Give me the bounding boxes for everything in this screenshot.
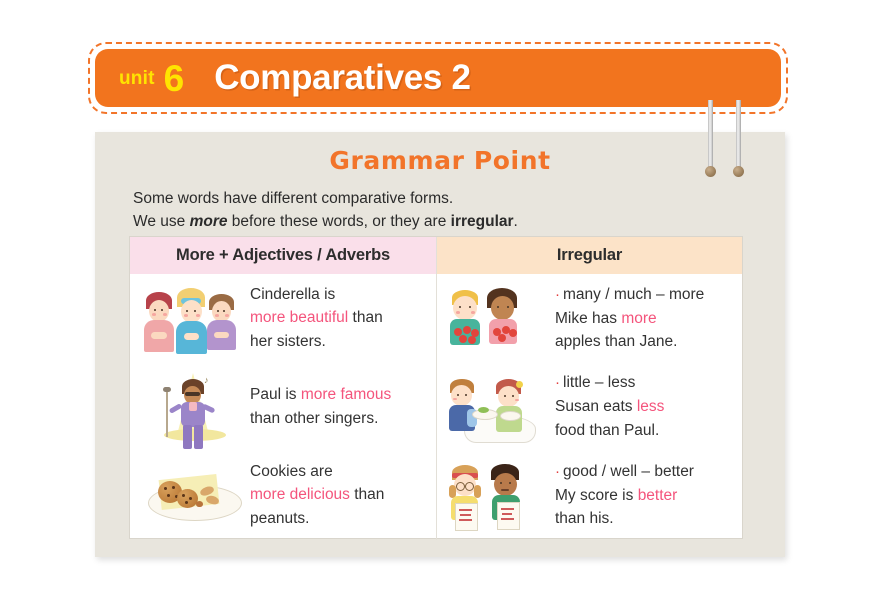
rule-text: good / well – better	[563, 463, 694, 480]
unit-label: unit	[119, 68, 155, 90]
intro-text: Some words have different comparative fo…	[133, 187, 785, 234]
rule-line: ·good / well – better	[555, 460, 694, 484]
intro-line-2-part2: before these words, or they are	[227, 213, 450, 230]
page-title: Comparatives 2	[214, 58, 470, 98]
two-kids-with-apples-illustration	[443, 278, 555, 358]
rule-line: ·little – less	[555, 371, 664, 395]
highlight-phrase: less	[637, 398, 665, 415]
example-line-2: My score is better	[555, 484, 694, 508]
singer-on-stage-illustration: ♪	[138, 367, 250, 447]
intro-line-2-part3: .	[514, 213, 518, 230]
example-line-2-rest: than	[348, 309, 382, 326]
example-line-1: Cookies are	[250, 460, 384, 484]
grammar-panel: Grammar Point Some words have different …	[95, 132, 785, 557]
column-header-more-adjectives: More + Adjectives / Adverbs	[130, 237, 436, 274]
example-line-1: Paul is more famous	[250, 383, 391, 407]
unit-banner: unit 6 Comparatives 2	[95, 49, 781, 107]
table-row: ♪ Paul is more famous than other singers…	[130, 363, 436, 452]
example-text: ·good / well – better My score is better…	[555, 460, 694, 531]
grammar-table: More + Adjectives / Adverbs Irregular	[129, 236, 743, 539]
example-line-3: than his.	[555, 507, 694, 531]
column-more-adjectives: Cinderella is more beautiful than her si…	[130, 274, 436, 540]
binding-pin-head-left	[705, 166, 716, 177]
example-line-2: more delicious than	[250, 483, 384, 507]
intro-emphasis-irregular: irregular	[451, 213, 514, 230]
column-header-irregular: Irregular	[436, 237, 742, 274]
bullet-icon: ·	[555, 374, 560, 391]
highlight-phrase: more delicious	[250, 486, 350, 503]
intro-line-2-part1: We use	[133, 213, 190, 230]
three-princesses-illustration	[138, 278, 250, 358]
table-row: ·many / much – more Mike has more apples…	[437, 274, 742, 363]
binding-pin-left	[708, 100, 713, 172]
example-text: ·little – less Susan eats less food than…	[555, 371, 664, 442]
cookies-and-peanuts-illustration	[138, 455, 250, 535]
highlight-phrase: more beautiful	[250, 309, 348, 326]
table-row: Cookies are more delicious than peanuts.	[130, 451, 436, 540]
bullet-icon: ·	[555, 463, 560, 480]
highlight-phrase: better	[638, 487, 678, 504]
table-body: Cinderella is more beautiful than her si…	[130, 274, 742, 540]
example-text: Cookies are more delicious than peanuts.	[250, 460, 384, 531]
example-line-2-pre: My score is	[555, 487, 638, 504]
intro-emphasis-more: more	[190, 213, 228, 230]
intro-line-1: Some words have different comparative fo…	[133, 187, 785, 210]
example-text: Paul is more famous than other singers.	[250, 383, 391, 430]
example-line-2: Susan eats less	[555, 395, 664, 419]
rule-line: ·many / much – more	[555, 283, 704, 307]
binding-pin-right	[736, 100, 741, 172]
grammar-point-title: Grammar Point	[95, 132, 785, 175]
unit-number: 6	[164, 60, 185, 97]
bullet-icon: ·	[555, 286, 560, 303]
column-irregular: ·many / much – more Mike has more apples…	[436, 274, 742, 540]
example-line-3: food than Paul.	[555, 419, 664, 443]
example-line-1-pre: Paul is	[250, 386, 301, 403]
example-line-1: Cinderella is	[250, 283, 383, 307]
table-header-row: More + Adjectives / Adverbs Irregular	[130, 237, 742, 274]
example-line-3: apples than Jane.	[555, 330, 704, 354]
table-row: Cinderella is more beautiful than her si…	[130, 274, 436, 363]
table-row: ·good / well – better My score is better…	[437, 451, 742, 540]
kids-eating-at-table-illustration	[443, 367, 555, 447]
kids-with-test-papers-illustration	[443, 455, 555, 535]
unit-banner-dashed-frame: unit 6 Comparatives 2	[88, 42, 788, 114]
example-line-3: her sisters.	[250, 330, 383, 354]
highlight-phrase: more	[621, 310, 656, 327]
highlight-phrase: more famous	[301, 386, 391, 403]
example-line-2: more beautiful than	[250, 306, 383, 330]
rule-text: many / much – more	[563, 286, 704, 303]
rule-text: little – less	[563, 374, 635, 391]
example-line-2-pre: Susan eats	[555, 398, 637, 415]
table-row: ·little – less Susan eats less food than…	[437, 363, 742, 452]
example-line-2: than other singers.	[250, 407, 391, 431]
example-text: Cinderella is more beautiful than her si…	[250, 283, 383, 354]
intro-line-2: We use more before these words, or they …	[133, 210, 785, 233]
example-line-2-pre: Mike has	[555, 310, 621, 327]
binding-pin-head-right	[733, 166, 744, 177]
example-line-2: Mike has more	[555, 307, 704, 331]
example-line-3: peanuts.	[250, 507, 384, 531]
example-line-2-rest: than	[350, 486, 384, 503]
example-text: ·many / much – more Mike has more apples…	[555, 283, 704, 354]
